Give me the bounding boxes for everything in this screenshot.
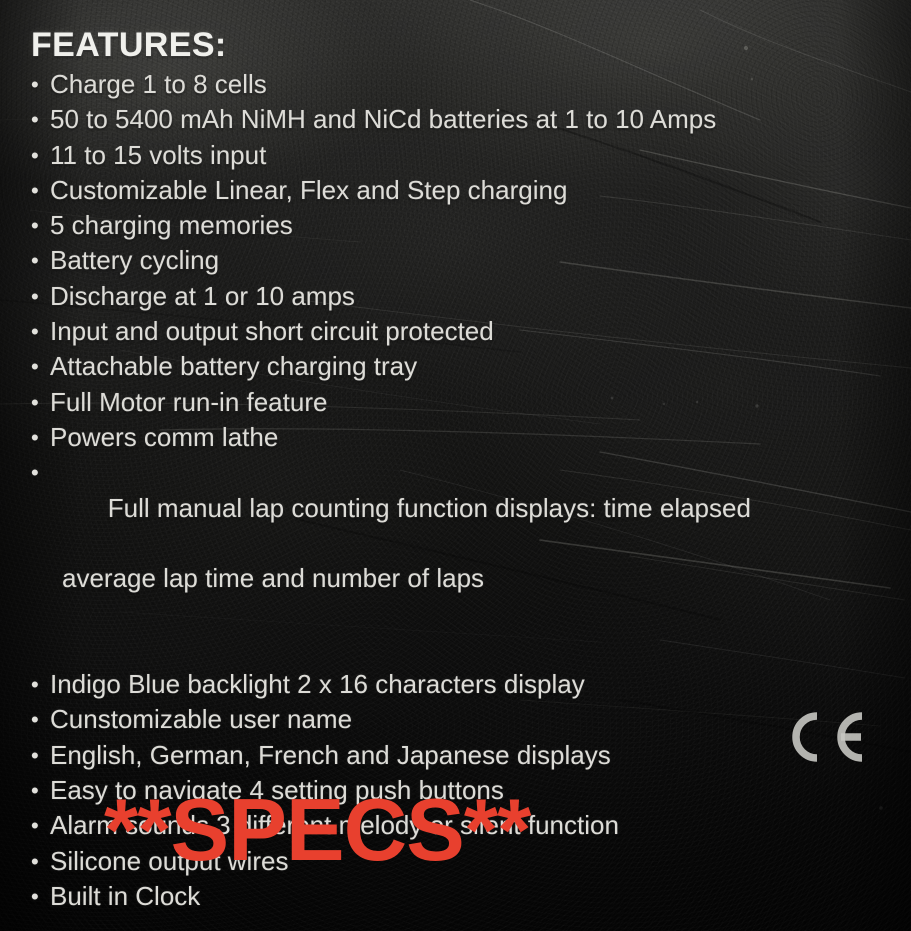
list-item: English, German, French and Japanese dis… bbox=[31, 738, 891, 773]
product-label-photo: FEATURES: Charge 1 to 8 cells 50 to 5400… bbox=[0, 0, 911, 931]
feature-text: Powers comm lathe bbox=[50, 422, 278, 452]
list-item: 50 to 5400 mAh NiMH and NiCd batteries a… bbox=[31, 102, 891, 137]
feature-text: Built in Clock bbox=[50, 881, 200, 911]
features-heading: FEATURES: bbox=[31, 26, 227, 65]
feature-text: Customizable Linear, Flex and Step charg… bbox=[50, 175, 567, 205]
list-item: Charge 1 to 8 cells bbox=[31, 67, 891, 102]
list-item: 11 to 15 volts input bbox=[31, 138, 891, 173]
list-item: Full Motor run-in feature bbox=[31, 385, 891, 420]
list-item: Cunstomizable user name bbox=[31, 702, 891, 737]
feature-text: Indigo Blue backlight 2 x 16 characters … bbox=[50, 669, 585, 699]
feature-text: 50 to 5400 mAh NiMH and NiCd batteries a… bbox=[50, 104, 716, 134]
list-item: Attachable battery charging tray bbox=[31, 349, 891, 384]
list-item: Powers comm lathe bbox=[31, 420, 891, 455]
feature-text-continuation: average lap time and number of laps bbox=[50, 561, 891, 596]
list-item: Battery cycling bbox=[31, 243, 891, 278]
list-item: Built in Clock bbox=[31, 879, 891, 914]
feature-text: Full Motor run-in feature bbox=[50, 387, 327, 417]
feature-text: Full manual lap counting function displa… bbox=[108, 493, 751, 523]
feature-text: Attachable battery charging tray bbox=[50, 351, 417, 381]
feature-text: Cunstomizable user name bbox=[50, 704, 352, 734]
feature-text: English, German, French and Japanese dis… bbox=[50, 740, 611, 770]
list-item: Full manual lap counting function displa… bbox=[31, 455, 891, 667]
feature-text: Input and output short circuit protected bbox=[50, 316, 494, 346]
feature-text: 5 charging memories bbox=[50, 210, 293, 240]
feature-text: 11 to 15 volts input bbox=[50, 140, 266, 170]
list-item: Customizable Linear, Flex and Step charg… bbox=[31, 173, 891, 208]
list-item: Indigo Blue backlight 2 x 16 characters … bbox=[31, 667, 891, 702]
list-item: Discharge at 1 or 10 amps bbox=[31, 279, 891, 314]
list-item: Input and output short circuit protected bbox=[31, 314, 891, 349]
specs-caption: **SPECS** bbox=[104, 786, 530, 874]
feature-text: Discharge at 1 or 10 amps bbox=[50, 281, 355, 311]
feature-text: Charge 1 to 8 cells bbox=[50, 69, 267, 99]
feature-text: Battery cycling bbox=[50, 245, 219, 275]
ce-mark-icon bbox=[777, 706, 869, 768]
label-content: FEATURES: Charge 1 to 8 cells 50 to 5400… bbox=[0, 0, 911, 931]
list-item: 5 charging memories bbox=[31, 208, 891, 243]
